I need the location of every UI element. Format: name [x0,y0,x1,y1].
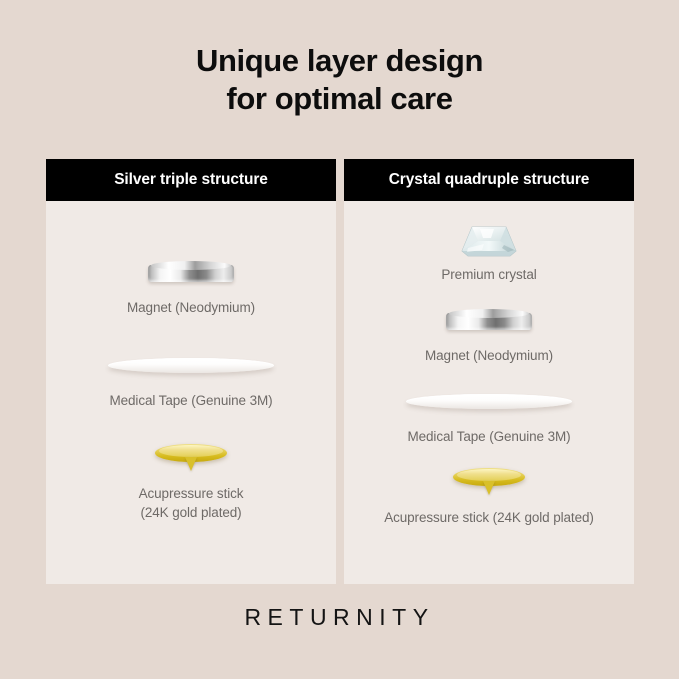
page-title-line-1: Unique layer design [0,42,679,80]
panel-silver-triple-structure: Silver triple structure Magnet (Neodymiu… [46,159,336,584]
layer-label-magnet-silver: Magnet (Neodymium) [127,298,255,317]
page-title-line-2: for optimal care [0,80,679,118]
crystal-gem-icon [352,217,626,263]
panel-header-crystal: Crystal quadruple structure [344,159,634,201]
medical-tape-icon [54,343,328,389]
layer-label-acupressure-stick-silver: Acupressure stick (24K gold plated) [139,484,244,522]
layer-label-medical-tape-crystal: Medical Tape (Genuine 3M) [407,427,570,446]
layer-acupressure-stick-crystal: Acupressure stick (24K gold plated) [352,460,626,527]
layer-label-acupressure-stick-crystal: Acupressure stick (24K gold plated) [384,508,594,527]
magnet-disc-icon [352,298,626,344]
panel-body-crystal: Premium crystal Magnet (Neodymium) [344,201,634,584]
layer-magnet-silver: Magnet (Neodymium) [54,250,328,317]
layer-label-magnet-crystal: Magnet (Neodymium) [425,346,553,365]
layer-medical-tape-crystal: Medical Tape (Genuine 3M) [352,379,626,446]
structure-comparison: Silver triple structure Magnet (Neodymiu… [46,159,634,584]
magnet-disc-icon [54,250,328,296]
layer-premium-crystal: Premium crystal [352,217,626,284]
layer-medical-tape-silver: Medical Tape (Genuine 3M) [54,343,328,410]
gold-acupressure-stick-icon [54,436,328,482]
medical-tape-icon [352,379,626,425]
panel-header-silver: Silver triple structure [46,159,336,201]
layer-label-medical-tape-silver: Medical Tape (Genuine 3M) [109,391,272,410]
layer-label-premium-crystal: Premium crystal [441,265,536,284]
layer-magnet-crystal: Magnet (Neodymium) [352,298,626,365]
panel-crystal-quadruple-structure: Crystal quadruple structure [344,159,634,584]
brand-wordmark: RETURNITY [0,604,679,631]
page-title: Unique layer design for optimal care [0,42,679,118]
panel-body-silver: Magnet (Neodymium) Medical Tape (Genuine… [46,201,336,584]
gold-acupressure-stick-icon [352,460,626,506]
layer-acupressure-stick-silver: Acupressure stick (24K gold plated) [54,436,328,522]
